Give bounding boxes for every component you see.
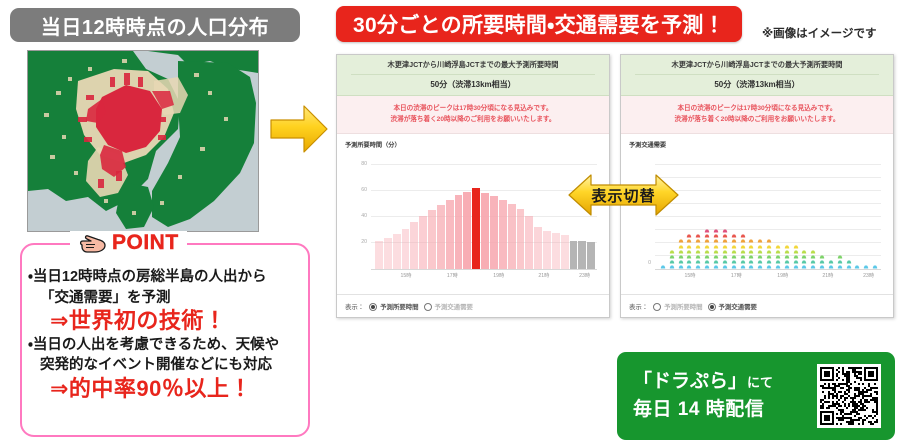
car-icon	[731, 265, 737, 269]
car-icon	[757, 250, 763, 254]
display-switch-arrow[interactable]	[567, 172, 680, 218]
x-axis-tick: 23時	[863, 272, 874, 279]
point-line-4: 突発的なイベント開催などにも対応	[28, 355, 302, 376]
qr-code[interactable]	[817, 364, 881, 428]
map-graphic	[28, 51, 258, 231]
car-icon	[801, 265, 807, 269]
car-icon	[722, 229, 728, 233]
x-axis-tick: 21時	[822, 272, 833, 279]
car-icon	[801, 250, 807, 254]
car-icon	[686, 234, 692, 238]
panel-left-footer: 表示： 予測所要時間 予測交通需要	[337, 294, 609, 317]
car-icon	[837, 260, 843, 264]
red-banner: 30分ごとの所要時間・交通需要を予測！	[336, 6, 742, 42]
car-icon	[713, 245, 719, 249]
car-icon	[713, 234, 719, 238]
dot-column	[809, 250, 817, 270]
car-icon	[819, 260, 825, 264]
car-icon	[810, 260, 816, 264]
car-icon	[695, 265, 701, 269]
panel-right-title: 木更津JCTから川崎浮島JCTまでの最大予測所要時間	[625, 61, 889, 70]
panel-left-alert: 本日の渋滞のピークは17時30分頃になる見込みです。 渋滞が落ち着く20時以降の…	[337, 96, 609, 135]
dot-column	[818, 255, 826, 269]
dot-column	[801, 250, 809, 270]
dot-column	[730, 234, 738, 269]
car-icon	[722, 234, 728, 238]
bar	[428, 210, 436, 269]
car-icon	[784, 265, 790, 269]
car-icon	[784, 250, 790, 254]
dot-column	[739, 234, 747, 269]
qr-code-graphic	[820, 367, 878, 425]
car-icon	[757, 239, 763, 243]
car-icon	[722, 265, 728, 269]
car-icon	[695, 239, 701, 243]
bar	[499, 200, 507, 269]
car-icon	[828, 260, 834, 264]
car-icon	[695, 234, 701, 238]
car-icon	[819, 255, 825, 259]
car-icon	[722, 250, 728, 254]
dot-column	[792, 245, 800, 270]
y-axis-tick: 20	[361, 239, 367, 245]
car-icon	[740, 265, 746, 269]
car-icon	[740, 255, 746, 259]
car-icon	[704, 250, 710, 254]
y-axis-tick: 80	[361, 161, 367, 167]
car-icon	[678, 255, 684, 259]
bar	[534, 227, 542, 269]
bar	[419, 216, 427, 270]
delivery-line-2: 毎日 14 時配信	[633, 396, 773, 424]
car-icon	[748, 250, 754, 254]
car-icon	[784, 255, 790, 259]
delivery-info-box: 「ドラぷら」にて 毎日 14 時配信	[617, 352, 895, 440]
car-icon	[704, 245, 710, 249]
dot-column	[836, 255, 844, 269]
car-icon	[713, 229, 719, 233]
dot-column	[827, 260, 835, 269]
radio-demand-right[interactable]: 予測交通需要	[708, 302, 757, 311]
bar	[393, 234, 401, 269]
dot-column	[871, 265, 879, 269]
point-highlight-2: ⇒的中率90％以上！	[28, 376, 302, 402]
bar	[561, 235, 569, 269]
bar	[570, 241, 578, 270]
car-icon	[678, 239, 684, 243]
car-icon	[731, 234, 737, 238]
bar-series	[375, 151, 595, 269]
dot-column	[694, 234, 702, 269]
car-icon	[766, 260, 772, 264]
bar	[525, 216, 533, 270]
point-body: ・当日12時時点の房総半島の人出から 「交通需要」を予測 ⇒世界初の技術！ ・当…	[28, 267, 302, 402]
car-icon	[846, 265, 852, 269]
car-icon	[740, 239, 746, 243]
bar	[384, 238, 392, 269]
point-line-3: ・当日の人出を考慮できるため、天候や	[28, 335, 302, 356]
car-icon	[775, 255, 781, 259]
panel-right-footer: 表示： 予測所要時間 予測交通需要	[621, 294, 893, 317]
car-icon	[775, 260, 781, 264]
x-axis-tick: 15時	[685, 272, 696, 279]
car-icon	[793, 260, 799, 264]
car-icon	[793, 250, 799, 254]
car-icon	[766, 265, 772, 269]
panel-left-axis-title: 予測所要時間（分）	[345, 140, 601, 149]
car-icon	[686, 245, 692, 249]
image-disclaimer: ※画像はイメージです	[762, 25, 876, 41]
bar	[587, 242, 595, 270]
car-icon	[775, 265, 781, 269]
bar	[472, 188, 480, 269]
car-icon	[766, 255, 772, 259]
car-icon	[757, 255, 763, 259]
radio-demand-left[interactable]: 予測交通需要	[424, 302, 473, 311]
x-axis-tick: 17時	[447, 272, 458, 279]
service-suffix: にて	[747, 375, 773, 390]
car-icon	[810, 255, 816, 259]
car-icon	[740, 250, 746, 254]
bar-chart-plot: 80604020	[371, 151, 597, 270]
bar	[508, 204, 516, 270]
point-highlight-1: ⇒世界初の技術！	[28, 308, 302, 334]
car-icon	[713, 250, 719, 254]
point-badge: POINT	[70, 231, 187, 255]
x-axis-tick: 17時	[731, 272, 742, 279]
panel-right-alert-line-1: 本日の渋滞のピークは17時30分頃になる見込みです。	[625, 104, 889, 115]
bar	[410, 222, 418, 269]
car-icon	[713, 255, 719, 259]
y-axis-tick: 0	[648, 260, 651, 266]
car-icon	[695, 260, 701, 264]
car-icon	[704, 255, 710, 259]
car-icon	[695, 255, 701, 259]
car-icon	[775, 245, 781, 249]
x-axis-tick: 21時	[538, 272, 549, 279]
x-axis-tick: 23時	[579, 272, 590, 279]
dot-column	[712, 229, 720, 269]
car-icon	[722, 260, 728, 264]
page-title: 当日12時時点の人口分布	[41, 11, 269, 40]
pointing-hand-icon	[78, 232, 108, 254]
car-icon	[678, 250, 684, 254]
dot-chart-xaxis: 15時17時19時21時23時	[655, 270, 881, 280]
car-icon	[731, 245, 737, 249]
car-icon	[722, 255, 728, 259]
flow-arrow-right	[268, 100, 330, 158]
car-icon	[748, 260, 754, 264]
car-icon	[686, 260, 692, 264]
car-icon	[863, 265, 869, 269]
car-icon	[660, 265, 666, 269]
dot-column	[659, 265, 667, 269]
car-icon	[766, 245, 772, 249]
panel-left-alert-line-1: 本日の渋滞のピークは17時30分頃になる見込みです。	[341, 104, 605, 115]
car-icon	[669, 260, 675, 264]
car-icon	[669, 265, 675, 269]
bar	[517, 209, 525, 269]
car-icon	[810, 250, 816, 254]
car-icon	[748, 239, 754, 243]
radio-demand-right-label: 予測交通需要	[719, 302, 757, 311]
panel-left-header: 木更津JCTから川崎浮島JCTまでの最大予測所要時間 50分（渋滞13km相当）	[337, 55, 609, 96]
car-icon	[686, 255, 692, 259]
bar	[402, 229, 410, 270]
car-icon	[801, 260, 807, 264]
car-icon	[731, 255, 737, 259]
population-map	[27, 50, 259, 232]
car-icon	[793, 265, 799, 269]
bar	[543, 231, 551, 269]
car-icon	[695, 245, 701, 249]
car-icon	[678, 260, 684, 264]
bar-chart-xaxis: 15時17時19時21時23時	[371, 270, 597, 280]
radio-demand-left-label: 予測交通需要	[435, 302, 473, 311]
car-icon	[713, 265, 719, 269]
point-badge-text: POINT	[112, 231, 179, 255]
dot-chart-plot: 0	[655, 151, 881, 270]
radio-travel-time-right[interactable]: 予測所要時間	[653, 302, 702, 311]
panel-left-divider	[351, 74, 595, 75]
car-icon	[704, 239, 710, 243]
y-axis-tick: 40	[361, 213, 367, 219]
bar	[455, 195, 463, 270]
y-axis-tick: 60	[361, 187, 367, 193]
car-icon	[872, 265, 878, 269]
panel-right-alert-line-2: 渋滞が落ち着く20時以降のご利用をお願いいたします。	[625, 115, 889, 126]
x-axis-tick: 19時	[777, 272, 788, 279]
panel-right-display-label: 表示：	[629, 302, 648, 311]
car-icon	[846, 260, 852, 264]
dot-column	[703, 229, 711, 269]
bar	[446, 200, 454, 269]
car-icon	[713, 260, 719, 264]
red-banner-text: 30分ごとの所要時間・交通需要を予測！	[353, 9, 725, 39]
car-icon	[678, 265, 684, 269]
car-icon	[757, 265, 763, 269]
x-axis-tick: 15時	[401, 272, 412, 279]
dot-column	[677, 239, 685, 269]
car-icon	[695, 250, 701, 254]
bar	[463, 192, 471, 269]
car-icon	[784, 260, 790, 264]
panel-left-value: 50分（渋滞13km相当）	[341, 79, 605, 90]
car-icon	[731, 239, 737, 243]
infographic-page: 当日12時時点の人口分布 30分ごとの所要時間・交通需要を予測！ ※画像はイメー…	[0, 0, 900, 446]
car-icon	[740, 245, 746, 249]
car-icon	[722, 245, 728, 249]
car-icon	[722, 239, 728, 243]
dot-column	[765, 239, 773, 269]
car-icon	[669, 255, 675, 259]
car-icon	[793, 255, 799, 259]
car-icon	[686, 265, 692, 269]
car-icon	[757, 245, 763, 249]
radio-demand-right-dot[interactable]	[708, 303, 716, 311]
car-icon	[775, 250, 781, 254]
radio-travel-time-left[interactable]: 予測所要時間	[369, 302, 418, 311]
car-icon	[704, 229, 710, 233]
car-icon	[686, 250, 692, 254]
panel-left-alert-line-2: 渋滞が落ち着く20時以降のご利用をお願いいたします。	[341, 115, 605, 126]
car-icon	[669, 250, 675, 254]
dot-column	[747, 239, 755, 269]
bar	[437, 205, 445, 269]
bar	[490, 196, 498, 269]
dot-column	[774, 245, 782, 270]
car-icon	[793, 245, 799, 249]
car-icon	[837, 265, 843, 269]
service-name: 「ドラぷら」	[633, 371, 747, 392]
panel-right-divider	[635, 74, 879, 75]
car-icon	[678, 245, 684, 249]
bar	[578, 241, 586, 270]
dot-column	[854, 265, 862, 269]
car-icon	[704, 234, 710, 238]
panel-right-header: 木更津JCTから川崎浮島JCTまでの最大予測所要時間 50分（渋滞13km相当）	[621, 55, 893, 96]
car-icon	[704, 260, 710, 264]
dot-column	[845, 260, 853, 269]
car-icon	[766, 250, 772, 254]
car-icon	[731, 250, 737, 254]
car-icon	[757, 260, 763, 264]
car-icon	[748, 255, 754, 259]
bar	[375, 241, 383, 270]
point-line-2: 「交通需要」を予測	[28, 288, 302, 309]
radio-travel-time-right-label: 予測所要時間	[664, 302, 702, 311]
panel-right-alert: 本日の渋滞のピークは17時30分頃になる見込みです。 渋滞が落ち着く20時以降の…	[621, 96, 893, 135]
radio-travel-time-left-label: 予測所要時間	[380, 302, 418, 311]
dot-column	[756, 239, 764, 269]
delivery-info-text: 「ドラぷら」にて 毎日 14 時配信	[617, 368, 773, 423]
dot-column	[783, 245, 791, 270]
car-icon	[713, 239, 719, 243]
car-icon	[766, 239, 772, 243]
dot-column	[686, 234, 694, 269]
radio-travel-time-left-dot[interactable]	[369, 303, 377, 311]
radio-travel-time-right-dot[interactable]	[653, 303, 661, 311]
dot-column	[668, 250, 676, 270]
dot-column	[721, 229, 729, 269]
bar	[481, 193, 489, 269]
car-icon	[686, 239, 692, 243]
dot-column	[862, 265, 870, 269]
point-callout-box: POINT ・当日12時時点の房総半島の人出から 「交通需要」を予測 ⇒世界初の…	[20, 243, 310, 437]
car-icon	[704, 265, 710, 269]
panel-right-axis-title: 予測交通需要	[629, 140, 885, 149]
car-icon	[828, 265, 834, 269]
car-icon	[748, 265, 754, 269]
car-icon	[819, 265, 825, 269]
car-icon	[731, 260, 737, 264]
point-line-1: ・当日12時時点の房総半島の人出から	[28, 267, 302, 288]
page-title-pill: 当日12時時点の人口分布	[10, 8, 300, 42]
car-icon	[837, 255, 843, 259]
bar	[552, 233, 560, 270]
car-icon	[810, 265, 816, 269]
panel-right-value: 50分（渋滞13km相当）	[625, 79, 889, 90]
x-axis-tick: 19時	[493, 272, 504, 279]
radio-demand-left-dot[interactable]	[424, 303, 432, 311]
car-icon	[740, 234, 746, 238]
car-icon	[740, 260, 746, 264]
panel-left-display-label: 表示：	[345, 302, 364, 311]
car-icon	[748, 245, 754, 249]
car-icon	[854, 265, 860, 269]
dot-series	[659, 151, 879, 269]
delivery-line-1: 「ドラぷら」にて	[633, 368, 773, 396]
car-icon	[801, 255, 807, 259]
car-icon	[784, 245, 790, 249]
panel-left-title: 木更津JCTから川崎浮島JCTまでの最大予測所要時間	[341, 61, 605, 70]
